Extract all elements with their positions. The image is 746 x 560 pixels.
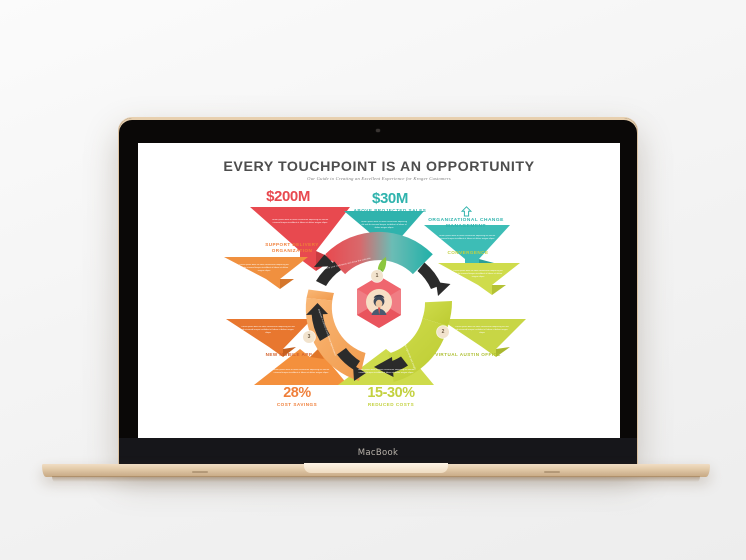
webcam-icon xyxy=(376,129,379,132)
infographic-canvas: EVERY TOUCHPOINT IS AN OPPORTUNITY Our G… xyxy=(138,143,620,438)
cycle-step-badge-2: 2 xyxy=(437,326,449,338)
base-shadow xyxy=(52,476,700,482)
base-foot-left xyxy=(192,471,208,473)
arrow-up-icon xyxy=(461,206,472,217)
stat-value: $200M xyxy=(226,189,350,204)
base-foot-right xyxy=(544,471,560,473)
laptop-lid: EVERY TOUCHPOINT IS AN OPPORTUNITY Our G… xyxy=(118,117,638,467)
cycle-step-badge-1: 1 xyxy=(371,270,383,282)
cycle-step-badge-3: 3 xyxy=(303,331,315,343)
laptop-screen: EVERY TOUCHPOINT IS AN OPPORTUNITY Our G… xyxy=(138,143,620,438)
base-notch xyxy=(304,463,448,473)
stat-caption: INCREASE IN PROFITS xyxy=(226,206,350,211)
stat-increase-in-profits: $200M INCREASE IN PROFITS xyxy=(226,189,350,211)
macbook-device: EVERY TOUCHPOINT IS AN OPPORTUNITY Our G… xyxy=(0,0,746,560)
stat-value: $30M xyxy=(338,191,442,206)
laptop-base xyxy=(42,464,710,486)
cycle-badges: 1 2 3 xyxy=(224,223,534,408)
brand-label: MacBook xyxy=(358,448,398,458)
